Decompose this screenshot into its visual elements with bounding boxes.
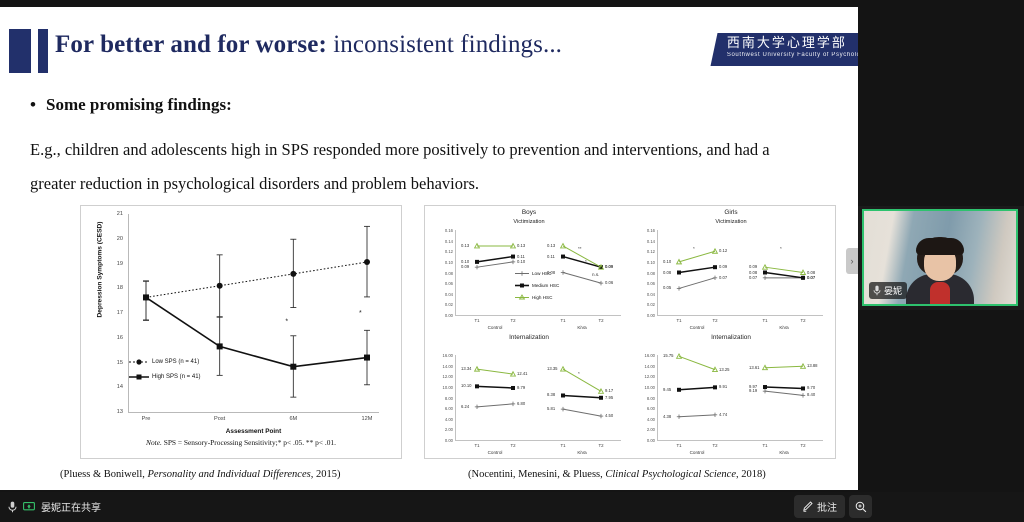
legend-marker [515,282,529,289]
chart-boys-internalization: Internalization0.002.004.006.008.0010.00… [429,333,629,455]
y-tick: 16 [101,335,123,341]
microphone-icon [8,501,17,513]
participant-video-tile[interactable]: 晏妮 [862,209,1018,306]
legend-label: Medium HSC [532,283,559,288]
x-tick: 6M [276,416,310,422]
legend-item-high-hsc: High HSC [515,294,559,301]
title-accent-bars [9,29,48,73]
magnifier-plus-icon [855,501,867,513]
legend-marker-dotted-circle [129,358,149,366]
zoom-button[interactable] [849,495,872,518]
meeting-bottom-bar: 晏妮正在共享 批注 [0,492,1024,522]
zoom-meeting-screen: For better and for worse: inconsistent f… [0,0,1024,522]
legend-item-high-sps: High SPS (n = 41) [129,373,201,381]
citation-left-year: 2015) [313,469,340,480]
y-tick: 17 [101,310,123,316]
logo-english-text: Southwest University Faculty of Psycholo… [727,52,858,58]
citation-right-year: , 2018) [736,469,766,480]
legend-marker [515,270,529,277]
y-tick: 15 [101,360,123,366]
y-tick: 14 [101,384,123,390]
y-tick: 20 [101,236,123,242]
chart-girls-victimization: GirlsVictimization0.000.020.040.060.080.… [631,208,831,330]
chart-note: Note. SPS = Sensory-Processing Sensitivi… [81,438,401,447]
chart-kiva-panels: BoysVictimization0.000.020.040.060.080.1… [424,205,836,459]
logo-chinese-text: 西南大学心理学部 [727,33,858,52]
x-axis-line [128,412,379,413]
legend-marker-solid-square [129,373,149,381]
chart-legend: Low SPS (n = 41) High SPS (n = 41) [129,358,201,388]
citation-left-prefix: (Pluess & Boniwell, [60,469,148,480]
pen-icon [802,501,813,512]
y-tick: 21 [101,211,123,217]
bullet-marker: • [30,95,46,115]
university-logo: 西南大学心理学部 Southwest University Faculty of… [710,33,858,66]
legend-label: Low HSC [532,271,551,276]
page-title-bold: For better and for worse: [55,31,327,58]
chart-note-italic: Note. [146,438,162,447]
person-fringe [916,238,964,255]
bullet-heading-text: Some promising findings: [46,95,232,114]
annotate-label: 批注 [817,499,837,514]
x-tick: Post [203,416,237,422]
y-tick: 13 [101,409,123,415]
participant-name: 晏妮 [884,284,902,297]
legend-label: High HSC [532,295,552,300]
svg-text:*: * [359,310,362,317]
microphone-icon [873,285,881,296]
legend-label-low-sps: Low SPS (n = 41) [152,359,199,365]
annotation-toolbar: 批注 [794,495,872,518]
chart-girls-internalization: Internalization0.002.004.006.008.0010.00… [631,333,831,455]
share-status: 晏妮正在共享 [8,499,101,514]
chart-depression-sps: Depression Symptoms (CESD) 1314151617181… [80,205,402,459]
share-status-text: 晏妮正在共享 [41,499,101,514]
collapse-panel-handle[interactable]: › [846,248,858,274]
accent-bar-wide [9,29,31,73]
legend-label-high-sps: High SPS (n = 41) [152,374,201,380]
citation-right-prefix: (Nocentini, Menesini, & Pluess, [468,469,605,480]
legend-item-low-sps: Low SPS (n = 41) [129,358,201,366]
chart-note-rest: SPS = Sensory-Processing Sensitivity;* p… [162,438,336,447]
y-tick: 19 [101,261,123,267]
x-axis-label: Assessment Point [128,428,379,435]
legend-marker [515,294,529,301]
page-title-regular: inconsistent findings... [327,31,562,58]
bullet-heading: •Some promising findings: [30,95,232,115]
citation-left: (Pluess & Boniwell, Personality and Indi… [60,469,340,480]
body-paragraph: E.g., children and adolescents high in S… [30,133,790,201]
chart-boys-victimization: BoysVictimization0.000.020.040.060.080.1… [429,208,629,330]
legend-item-low-hsc: Low HSC [515,270,559,277]
citation-right-journal: Clinical Psychological Science [605,469,736,480]
shared-slide: For better and for worse: inconsistent f… [0,7,858,490]
citation-left-journal: Personality and Individual Differences, [148,469,314,480]
participant-name-chip: 晏妮 [869,282,907,299]
screen-share-icon [23,502,35,512]
page-title: For better and for worse: inconsistent f… [55,31,562,59]
x-tick: 12M [350,416,384,422]
participant-video-panel[interactable]: 晏妮 [858,206,1024,310]
chart-legend: Low HSCMedium HSCHigh HSC [515,270,559,306]
person-scarf [930,282,950,304]
legend-item-medium-hsc: Medium HSC [515,282,559,289]
svg-text:*: * [285,318,288,325]
citation-right: (Nocentini, Menesini, & Pluess, Clinical… [468,469,766,480]
y-tick: 18 [101,285,123,291]
x-tick: Pre [129,416,163,422]
accent-bar-narrow [38,29,48,73]
annotate-button[interactable]: 批注 [794,495,845,518]
